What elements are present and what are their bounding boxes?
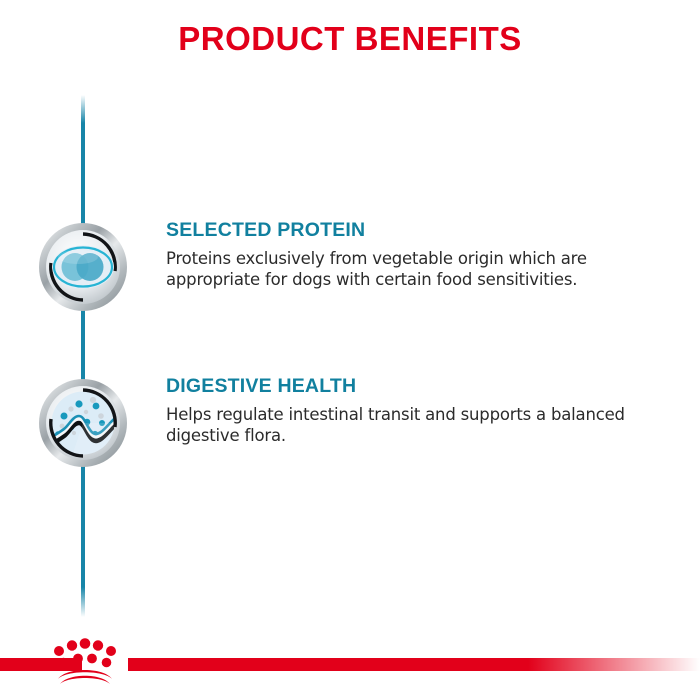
vertical-connector-line — [81, 95, 85, 617]
digestive-health-icon — [38, 378, 128, 468]
footer-stripe-right — [128, 658, 700, 671]
benefit-heading: SELECTED PROTEIN — [166, 218, 666, 242]
benefit-description: Helps regulate intestinal transit and su… — [166, 404, 666, 446]
benefit-heading: DIGESTIVE HEALTH — [166, 374, 666, 398]
benefit-text-block: DIGESTIVE HEALTH Helps regulate intestin… — [166, 374, 666, 446]
selected-protein-icon — [38, 222, 128, 312]
benefit-text-block: SELECTED PROTEIN Proteins exclusively fr… — [166, 218, 666, 290]
benefit-item-digestive-health: DIGESTIVE HEALTH Helps regulate intestin… — [0, 374, 700, 474]
benefit-item-selected-protein: SELECTED PROTEIN Proteins exclusively fr… — [0, 218, 700, 318]
royal-canin-crown-logo — [46, 634, 124, 690]
page-title: PRODUCT BENEFITS — [0, 20, 700, 58]
benefit-description: Proteins exclusively from vegetable orig… — [166, 248, 666, 290]
product-benefits-panel: PRODUCT BENEFITS — [0, 0, 700, 700]
